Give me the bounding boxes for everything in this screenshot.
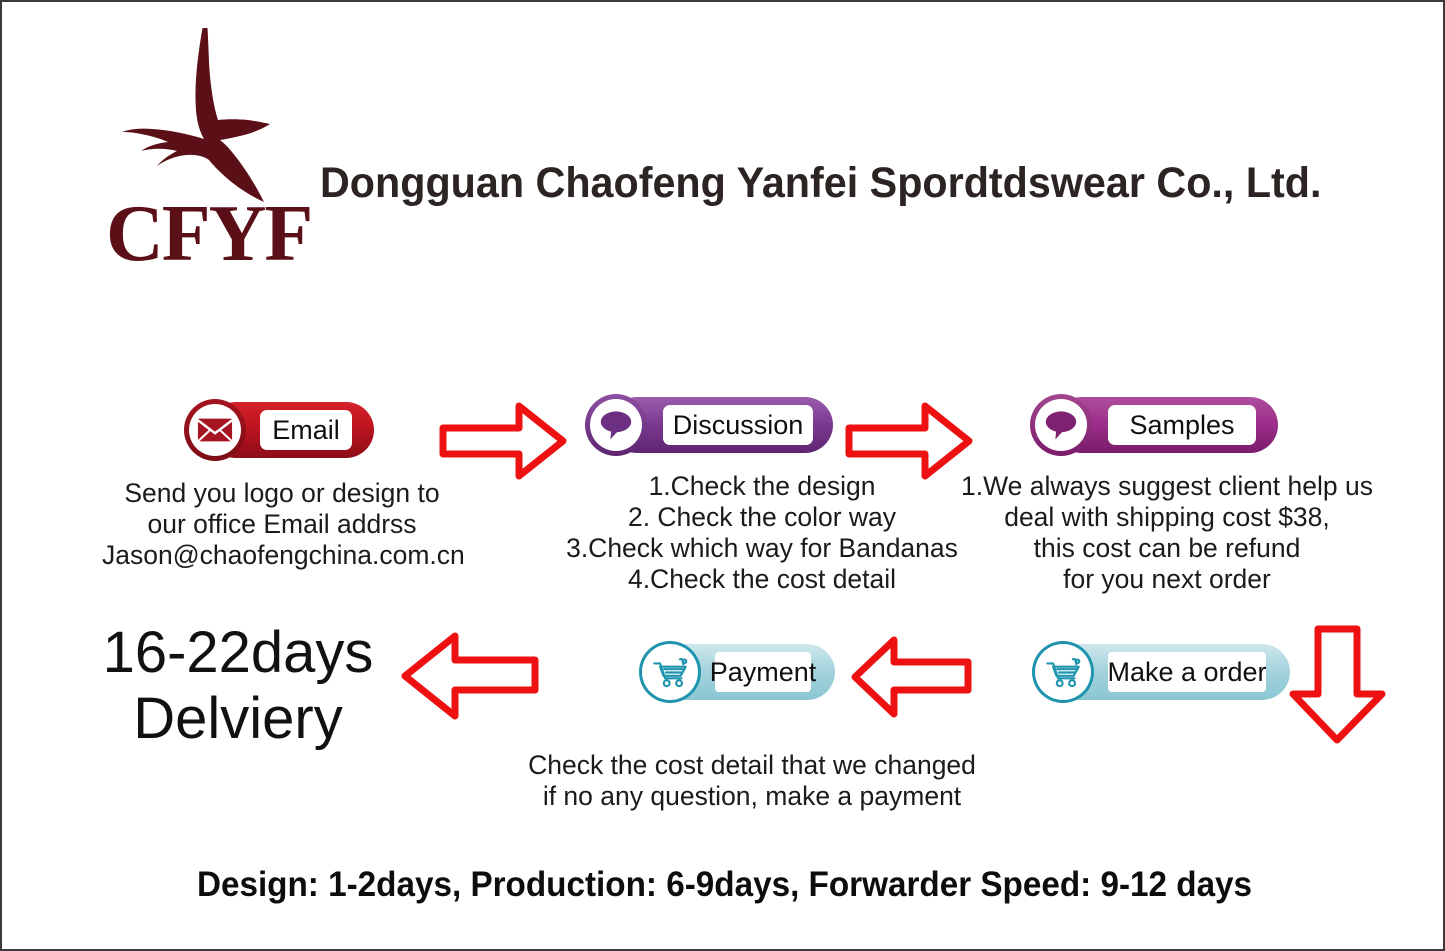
arrow-right-discussion-to-samples [845, 400, 975, 482]
email-badge-label: Email [260, 410, 352, 450]
step-discussion[interactable]: Discussion [585, 394, 833, 456]
discussion-badge[interactable]: Discussion [585, 394, 833, 456]
step-discussion-caption: 1.Check the design 2. Check the color wa… [547, 471, 977, 595]
logo-wordmark: CFYF [106, 195, 306, 273]
arrow-right-email-to-discussion [439, 400, 569, 482]
page-title: Dongguan Chaofeng Yanfei Spordtdswear Co… [320, 154, 1338, 212]
envelope-icon [184, 399, 246, 461]
arrow-down-samples-to-order [1285, 624, 1390, 746]
email-badge[interactable]: Email [184, 399, 374, 461]
step-samples-caption: 1.We always suggest client help us deal … [947, 471, 1387, 595]
payment-badge[interactable]: Payment [639, 641, 835, 703]
footer-note: Design: 1-2days, Production: 6-9days, Fo… [38, 862, 1411, 908]
arrow-left-order-to-payment [850, 634, 972, 720]
shopping-cart-icon [1032, 641, 1094, 703]
step-email[interactable]: Email [184, 399, 374, 461]
samples-badge-label: Samples [1108, 405, 1256, 445]
shopping-cart-icon [639, 641, 701, 703]
step-samples[interactable]: Samples [1030, 394, 1278, 456]
payment-badge-label: Payment [715, 652, 811, 692]
swallow-bird-logo-icon [114, 24, 304, 202]
make-a-order-badge-label: Make a order [1108, 652, 1266, 692]
step-payment-caption: Check the cost detail that we changed if… [507, 750, 997, 812]
discussion-badge-label: Discussion [663, 405, 813, 445]
samples-badge[interactable]: Samples [1030, 394, 1278, 456]
delivery-time-text: 16-22days Delviery [42, 620, 434, 752]
make-a-order-badge[interactable]: Make a order [1032, 641, 1290, 703]
infographic-page: CFYF Dongguan Chaofeng Yanfei Spordtdswe… [0, 0, 1445, 951]
speech-bubble-icon [1030, 394, 1092, 456]
speech-bubble-icon [585, 394, 647, 456]
step-payment[interactable]: Payment [639, 641, 835, 703]
step-email-caption: Send you logo or design to our office Em… [102, 478, 462, 571]
header: CFYF Dongguan Chaofeng Yanfei Spordtdswe… [2, 2, 1445, 292]
step-make-a-order[interactable]: Make a order [1032, 641, 1290, 703]
